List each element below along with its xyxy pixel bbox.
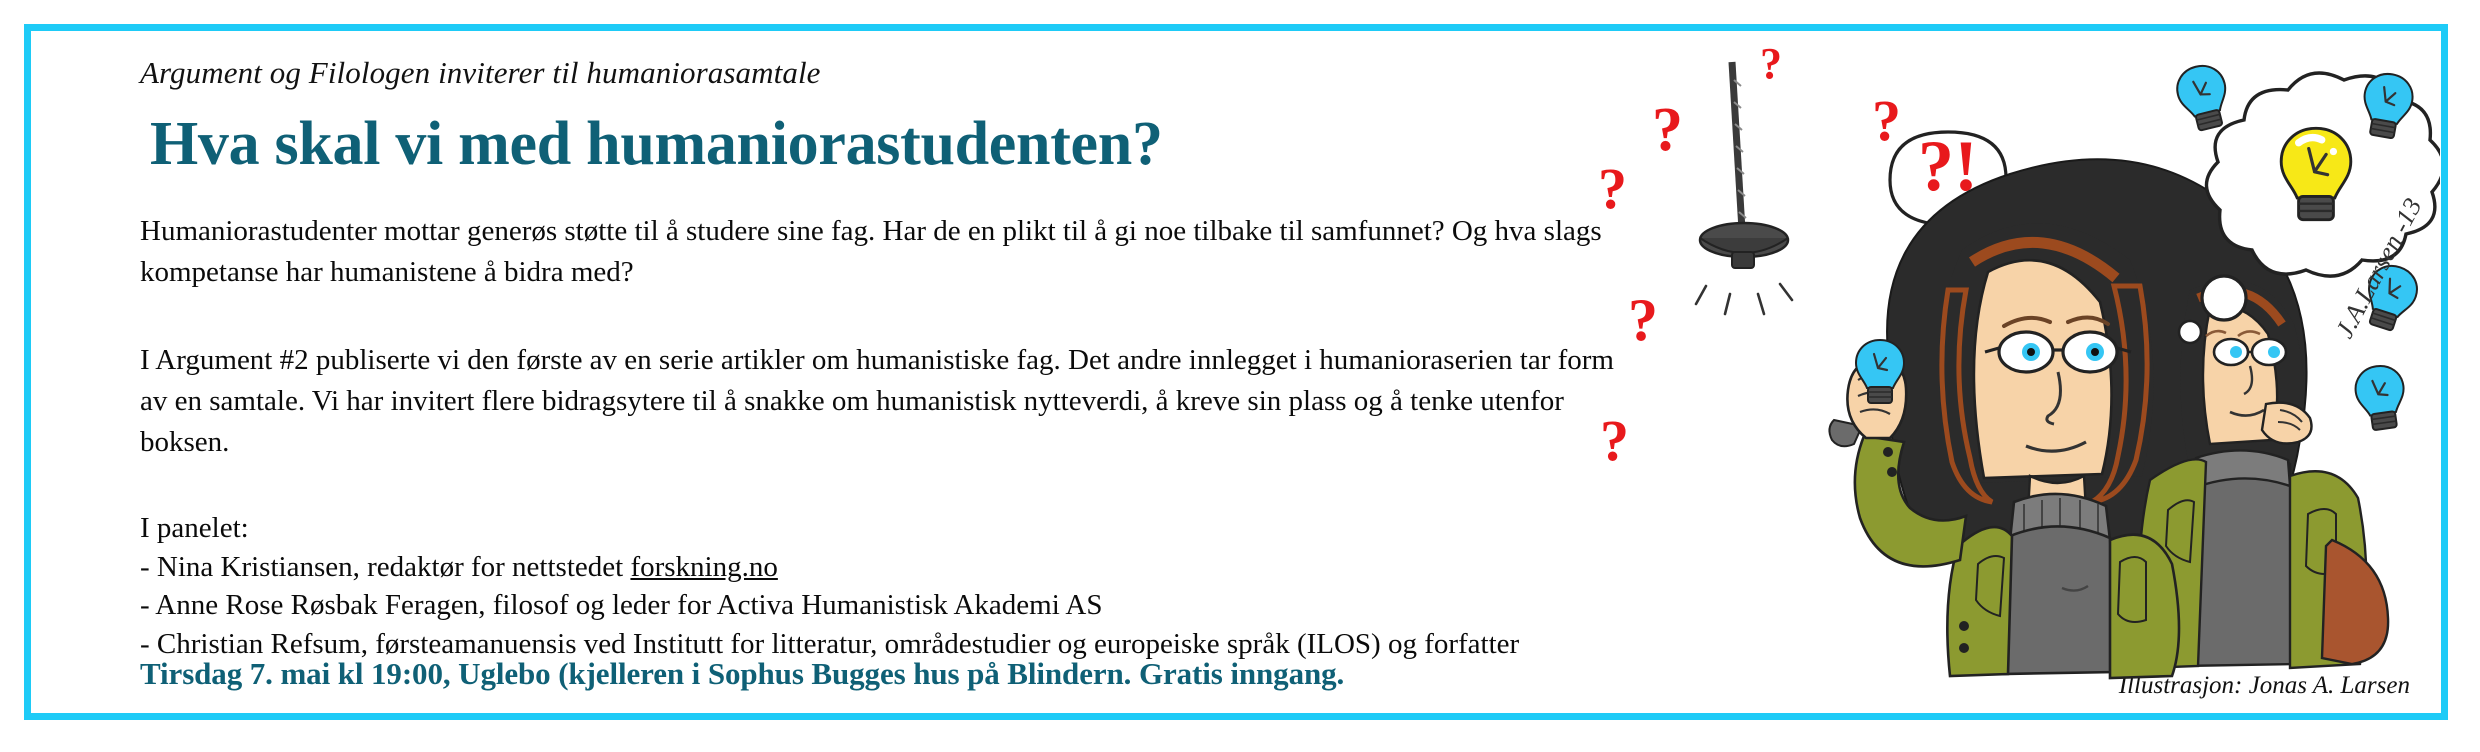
pendant-lamp-icon — [1696, 62, 1792, 314]
svg-text:?: ? — [1872, 88, 1901, 153]
person-left — [1829, 223, 2179, 678]
bulb-blue-icon — [2172, 61, 2234, 134]
svg-text:?: ? — [1760, 40, 1782, 88]
illustration-artwork: ? ? ? ? ? ? ?! — [1590, 40, 2440, 680]
panel-member-2: - Anne Rose Røsbak Feragen, filosof og l… — [140, 586, 1660, 625]
panel-heading: I panelet: — [140, 509, 1660, 548]
event-details: Tirsdag 7. mai kl 19:00, Uglebo (kjeller… — [140, 656, 1344, 692]
svg-text:?: ? — [1628, 287, 1658, 353]
bulb-blue-icon — [2353, 363, 2409, 432]
svg-text:?: ? — [1600, 408, 1629, 473]
panel-member-1-text: - Nina Kristiansen, redaktør for nettste… — [140, 551, 630, 583]
kicker-line: Argument og Filologen inviterer til huma… — [140, 46, 1660, 90]
text-column: Argument og Filologen inviterer til huma… — [140, 46, 1660, 706]
svg-text:?: ? — [1652, 96, 1683, 164]
body-paragraph-1: Humaniorastudenter mottar generøs støtte… — [140, 177, 1620, 293]
panel-member-1: - Nina Kristiansen, redaktør for nettste… — [140, 548, 1660, 587]
panel-list: I panelet: - Nina Kristiansen, redaktør … — [140, 463, 1660, 663]
page-title: Hva skal vi med humaniorastudenten? — [140, 90, 1660, 177]
forskning-no-link[interactable]: forskning.no — [630, 551, 777, 583]
body-paragraph-2: I Argument #2 publiserte vi den første a… — [140, 294, 1620, 464]
poster-canvas: Argument og Filologen inviterer til huma… — [0, 0, 2480, 752]
bag — [2322, 540, 2388, 664]
svg-text:?: ? — [1598, 156, 1627, 221]
